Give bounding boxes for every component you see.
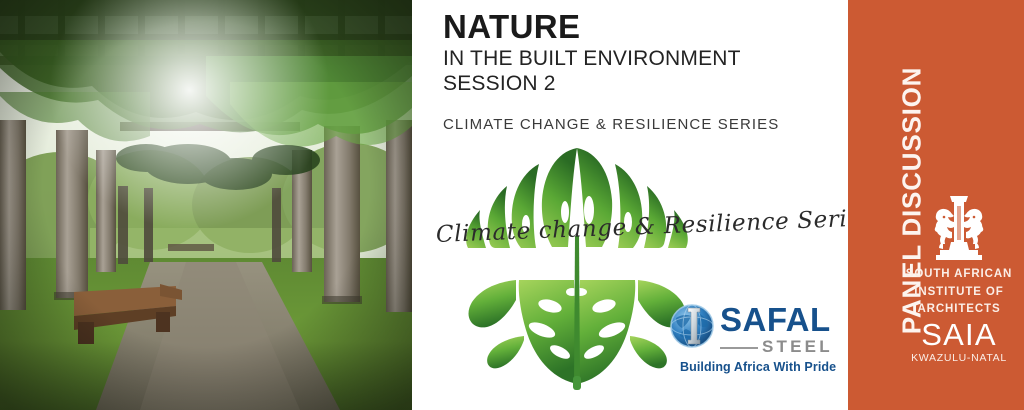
saia-logo: SOUTH AFRICAN INSTITUTE OF ARCHITECTS SA… — [898, 192, 1020, 365]
divider-rule — [720, 347, 758, 349]
safal-steel-logo: SAFAL STEEL Building Africa With Pride — [652, 296, 848, 382]
saia-org-line-3: ARCHITECTS — [898, 302, 1020, 317]
pergola-garden-photo — [0, 0, 412, 410]
safal-wordmark: SAFAL — [720, 302, 831, 338]
event-banner: NATURE IN THE BUILT ENVIRONMENT SESSION … — [0, 0, 1024, 410]
saia-region: KWAZULU-NATAL — [898, 352, 1020, 365]
series-label: CLIMATE CHANGE & RESILIENCE SERIES — [443, 96, 843, 134]
panel-discussion-sidebar: PANEL DISCUSSION — [848, 0, 1024, 410]
safal-tagline: Building Africa With Pride — [680, 360, 836, 374]
saia-acronym: SAIA — [898, 318, 1020, 352]
globe-icon — [666, 300, 718, 352]
safal-product-label: STEEL — [762, 338, 833, 356]
saia-heraldic-lions-icon — [924, 192, 994, 264]
subtitle-line-2: SESSION 2 — [443, 71, 843, 96]
saia-org-line-1: SOUTH AFRICAN — [898, 267, 1020, 282]
subtitle-line-1: IN THE BUILT ENVIRONMENT — [443, 46, 843, 71]
center-content-panel: NATURE IN THE BUILT ENVIRONMENT SESSION … — [412, 0, 848, 410]
saia-org-line-2: INSTITUTE OF — [898, 285, 1020, 300]
safal-steel-row: STEEL — [720, 338, 844, 356]
title-block: NATURE IN THE BUILT ENVIRONMENT SESSION … — [443, 8, 843, 134]
page-title: NATURE — [443, 8, 843, 46]
